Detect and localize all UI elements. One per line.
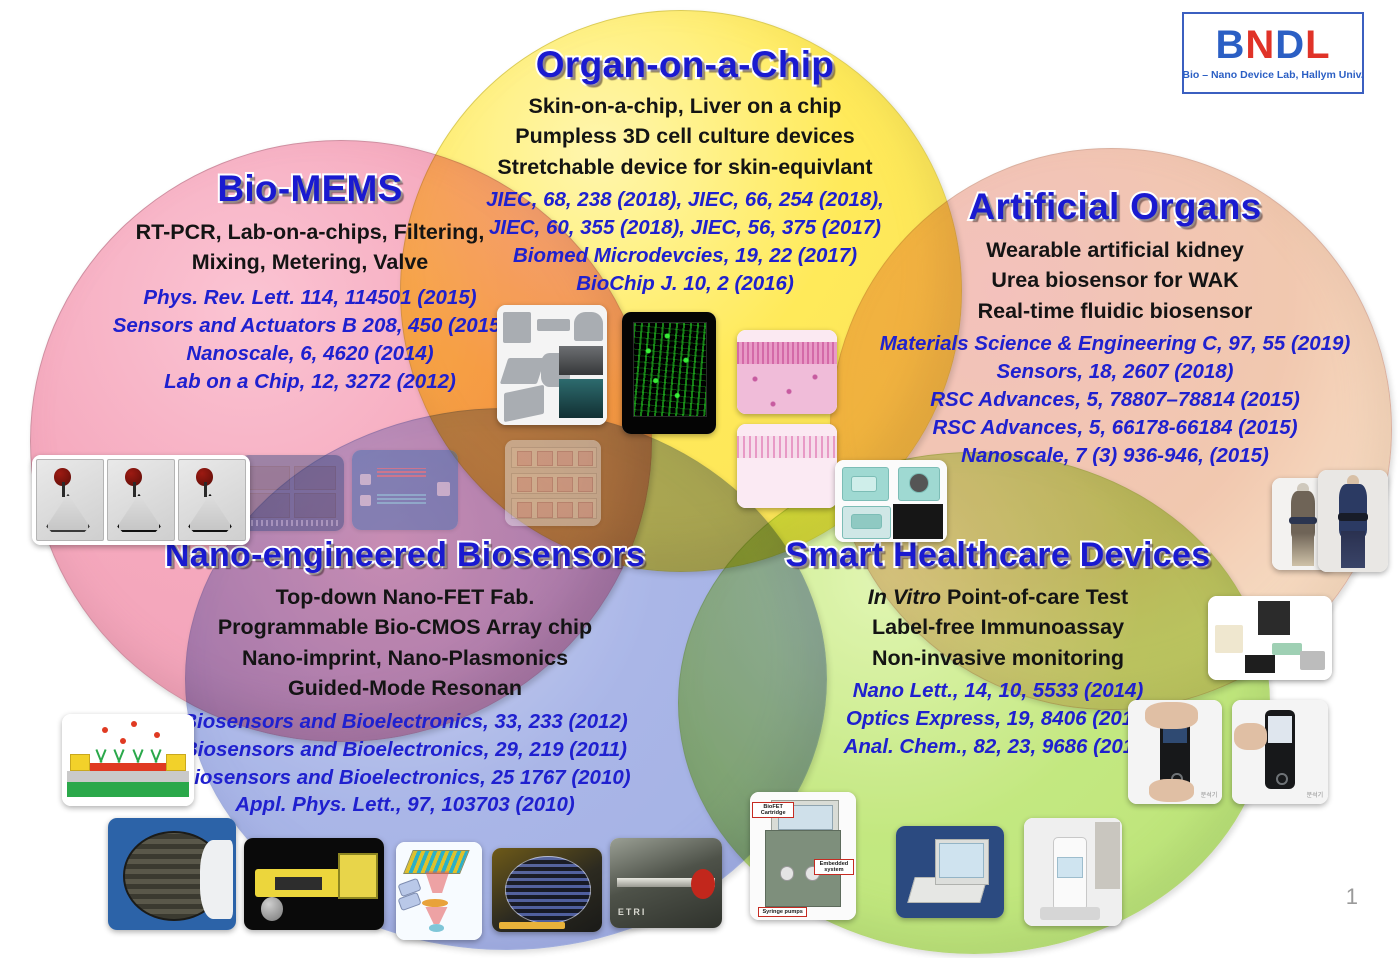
thumbnail-chip-closeup <box>492 848 602 932</box>
thumbnail-lab-chip-board <box>240 455 344 531</box>
thumbnail-microfluidic-cartridge <box>352 450 458 530</box>
reference-line: RSC Advances, 5, 78807–78814 (2015) <box>845 386 1385 414</box>
annotation-biofet-cartridge: BioFET Cartridge <box>752 802 794 818</box>
topic-line: Top-down Nano-FET Fab. <box>100 582 710 613</box>
thumbnail-optical-stack-schematic <box>396 842 482 940</box>
topic-line: Nano-imprint, Nano-Plasmonics <box>100 643 710 674</box>
thumbnail-nano-fet-device <box>244 838 384 930</box>
slide-canvas: ETRI BioFET Cartridge Embedded system Sy… <box>0 0 1400 958</box>
section-artificial-organs: Artificial Organs Wearable artificial ki… <box>845 188 1385 470</box>
thumbnail-wearable-kidney-photo <box>1318 470 1388 572</box>
reference-line: Sensors, 18, 2607 (2018) <box>845 358 1385 386</box>
topic-line: Wearable artificial kidney <box>845 235 1385 266</box>
phone-label-right: 분석기 <box>1307 790 1324 799</box>
thumbnail-skin-histology-1 <box>737 330 837 414</box>
topic-emphasis: In Vitro <box>868 585 941 609</box>
topic-line: Programmable Bio-CMOS Array chip <box>100 612 710 643</box>
section-title-organ-on-a-chip: Organ-on-a-Chip <box>425 46 945 85</box>
thumbnail-smartphone-poct-2: 분석기 <box>1232 700 1328 804</box>
topic-line: Skin-on-a-chip, Liver on a chip <box>425 91 945 122</box>
section-title-artificial-organs: Artificial Organs <box>845 188 1385 227</box>
topic-rest: Point-of-care Test <box>941 585 1128 609</box>
thumbnail-portable-analyzer <box>896 826 1004 918</box>
reference-line: Materials Science & Engineering C, 97, 5… <box>845 330 1385 358</box>
reference-line: RSC Advances, 5, 66178-66184 (2015) <box>845 414 1385 442</box>
page-number: 1 <box>1346 884 1358 910</box>
thumbnail-sample-tray <box>505 440 601 526</box>
annotation-syringe-pumps: Syringe pumps <box>758 907 806 917</box>
topic-line: Label-free Immunoassay <box>728 612 1268 643</box>
topic-line: Urea biosensor for WAK <box>845 265 1385 296</box>
topic-line: Stretchable device for skin-equivlant <box>425 152 945 183</box>
thumbnail-fabrication-figure <box>497 305 607 425</box>
topic-line: Guided-Mode Resonan <box>100 673 710 704</box>
topic-line: Non-invasive monitoring <box>728 643 1268 674</box>
thumbnail-microfluidic-chips <box>32 455 250 545</box>
bndl-logo: BNDL Bio – Nano Device Lab, Hallym Univ. <box>1182 12 1364 94</box>
thumbnail-biofet-instrument: BioFET Cartridge Embedded system Syringe… <box>750 792 856 920</box>
thumbnail-smartphone-poct-1: 분석기 <box>1128 700 1222 804</box>
thumbnail-monitoring-setup-diagram <box>1208 596 1332 680</box>
etri-label: ETRI <box>618 907 647 917</box>
annotation-embedded-system: Embedded system <box>814 859 854 875</box>
thumbnail-antibody-sensor-schematic <box>62 714 194 806</box>
thumbnail-handheld-reader <box>1024 818 1122 926</box>
phone-label-left: 분석기 <box>1201 790 1218 799</box>
topic-line: Pumpless 3D cell culture devices <box>425 121 945 152</box>
logo-letters: BNDL <box>1215 25 1330 65</box>
thumbnail-etri-device: ETRI <box>610 838 722 928</box>
thumbnail-skin-histology-2 <box>737 424 837 508</box>
logo-subtitle: Bio – Nano Device Lab, Hallym Univ. <box>1182 69 1363 81</box>
thumbnail-fluorescence-cell-culture <box>622 312 716 434</box>
topic-line: In Vitro Point-of-care Test <box>728 582 1268 613</box>
thumbnail-silicon-wafer <box>108 818 236 930</box>
section-title-smart-healthcare-devices: Smart Healthcare Devices <box>728 538 1268 574</box>
topic-line: Real-time fluidic biosensor <box>845 296 1385 327</box>
thumbnail-urea-biosensor-device <box>835 460 947 542</box>
